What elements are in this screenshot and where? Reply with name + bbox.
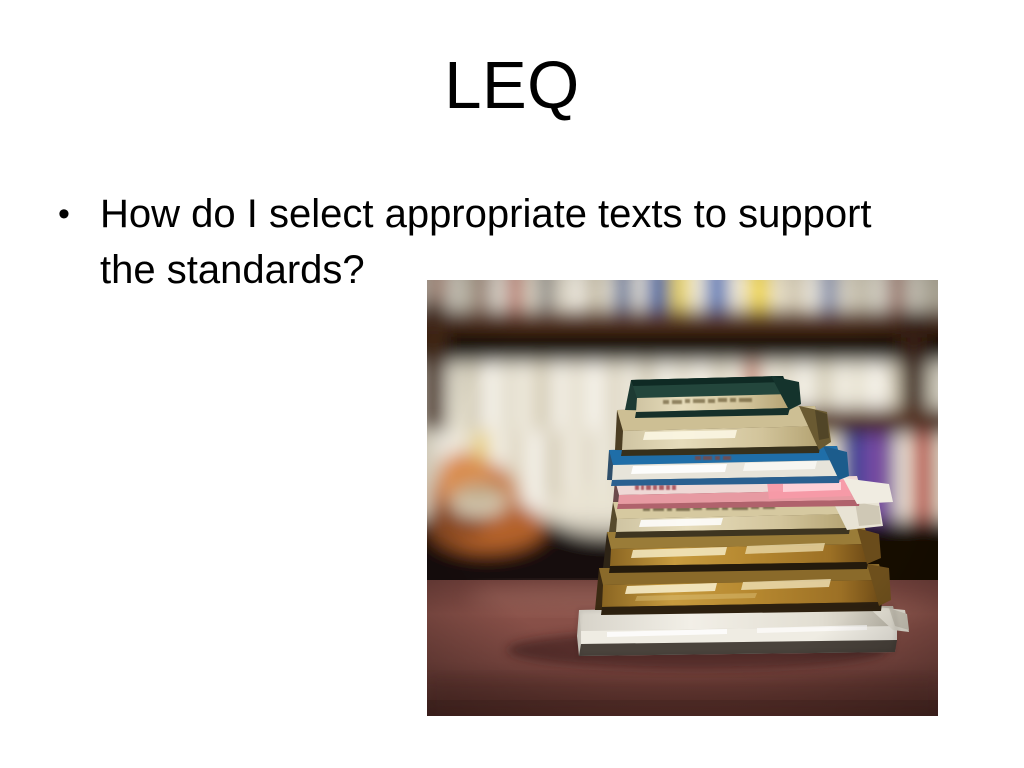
book-stack-illustration <box>427 280 938 716</box>
presentation-slide: LEQ • How do I select appropriate texts … <box>0 0 1024 768</box>
book-stack-photo <box>427 280 938 716</box>
bullet-point-icon: • <box>58 186 100 242</box>
slide-title: LEQ <box>0 52 1024 119</box>
